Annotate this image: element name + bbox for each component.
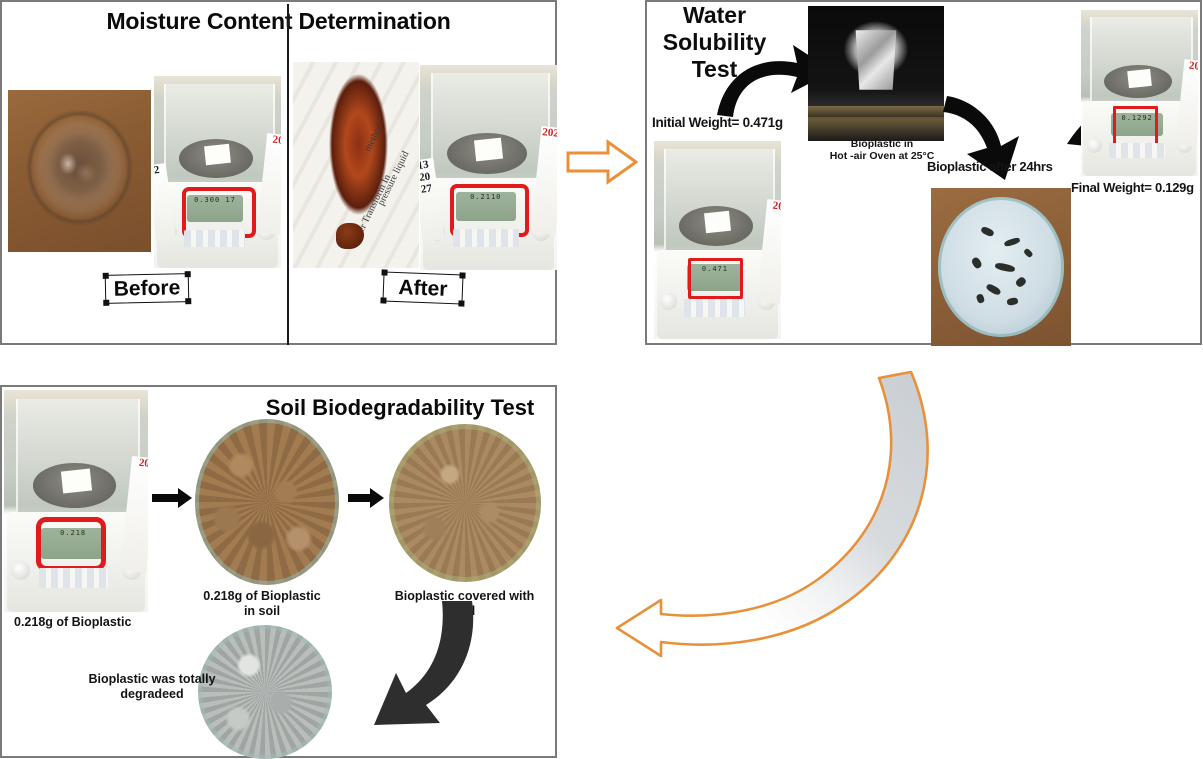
balance-keypad (1109, 143, 1165, 158)
balance-sample (474, 137, 503, 160)
orange-straight-arrow-icon (566, 138, 638, 186)
caption-fully-degraded: Bioplastic was totally degradeed (72, 672, 232, 702)
orange-curved-arrow-icon (595, 360, 955, 660)
photo-balance-initial: 0.471 20 (654, 141, 781, 339)
black-curved-arrow-icon (322, 599, 482, 739)
paper-text-method: method (362, 122, 385, 154)
handle-bottom-left (103, 300, 109, 306)
handle-top-right (459, 272, 465, 278)
bioplastic-fragment (985, 283, 1002, 297)
bioplastic-fragment (994, 262, 1015, 273)
bioplastic-fragment (980, 226, 994, 238)
red-highlight-box (1113, 106, 1159, 147)
balance-sample (204, 144, 231, 166)
caption-initial-weight: Initial Weight= 0.471g (652, 115, 783, 131)
caption-oven-line1: Bioplastic in (851, 138, 913, 150)
bioplastic-fragment (1007, 297, 1019, 306)
handle-bottom-left (380, 297, 386, 303)
panel-moisture-title: Moisture Content Determination (2, 8, 555, 35)
caption-after-24hrs: Bioplastic after 24hrs (927, 159, 1053, 174)
label-after-text: After (384, 273, 463, 301)
photo-bioplastic-covered-with-soil (389, 424, 541, 582)
caption-oven-line2: Hot -air Oven at 25°C (830, 150, 935, 162)
bioplastic-fragment (1023, 248, 1033, 258)
label-after-box: After (382, 271, 463, 304)
handle-bottom-right (458, 300, 464, 306)
balance-keypad (453, 229, 519, 247)
handle-top-left (103, 273, 109, 279)
panel-moisture-content: Moisture Content Determination 0.300 17 … (0, 0, 557, 345)
caption-soil-line1: 0.218g of Bioplastic (203, 589, 320, 603)
photo-wet-bioplastic-gel: method pressure liquid er Transform In (293, 62, 419, 268)
photo-oven-with-bioplastic (808, 6, 944, 141)
caption-degraded-line2: degradeed (120, 687, 183, 701)
balance-keypad (184, 230, 245, 247)
handle-bottom-right (185, 298, 191, 304)
panel-soil-title: Soil Biodegradability Test (242, 395, 558, 421)
water-title-line1: Water (683, 2, 746, 28)
balance-foot-left (1087, 138, 1102, 153)
foil-wrapped-sample (853, 30, 899, 89)
balance-sample (61, 468, 92, 493)
label-before-text: Before (106, 274, 188, 300)
red-highlight-box (36, 517, 106, 571)
balance-keypad (39, 568, 108, 588)
caption-final-weight: Final Weight= 0.129g (1071, 180, 1194, 195)
caption-weighed-bioplastic: 0.218g of Bioplastic (14, 615, 131, 630)
handle-top-left (381, 269, 387, 275)
caption-degraded-line1: Bioplastic was totally (88, 672, 215, 686)
handle-top-right (185, 271, 191, 277)
panel-soil-biodegradability: Soil Biodegradability Test 0.218 20 0.21… (0, 385, 557, 758)
panel-divider (287, 4, 289, 345)
balance-keypad (684, 299, 745, 317)
photo-petri-dish-water (931, 188, 1071, 346)
photo-balance-soil: 0.218 20 (4, 390, 148, 612)
caption-soil-line2: in soil (244, 604, 280, 618)
paper-text-transform: er Transform In (356, 173, 393, 234)
label-before-box: Before (105, 273, 190, 304)
bioplastic-fragment (975, 293, 985, 304)
balance-foot-left (11, 561, 30, 580)
gel-blob (336, 223, 364, 250)
balance-sample (704, 211, 731, 233)
red-highlight-box (688, 258, 742, 300)
oven-tray (808, 106, 944, 117)
black-arrow-b-icon (348, 487, 384, 509)
panel-water-solubility: 0.471 20 Initial Weight= 0.471g Bioplast… (645, 0, 1202, 345)
water-disc (938, 197, 1064, 336)
balance-foot-left (660, 293, 677, 310)
photo-bioplastic-in-soil (195, 419, 339, 585)
bioplastic-fragment (1015, 276, 1028, 289)
photo-balance-final: 0.1292 20 (1081, 10, 1198, 176)
balance-sample (1127, 69, 1152, 88)
black-arrow-a-icon (152, 487, 192, 509)
seaweed-clump (51, 143, 108, 195)
photo-balance-before: 0.300 17 2 20 (154, 76, 281, 268)
photo-balance-after: 0.2110 132027 2020 (420, 65, 557, 270)
photo-seaweed-in-petri-dish (8, 90, 151, 252)
caption-bioplastic-in-soil: 0.218g of Bioplastic in soil (187, 589, 337, 619)
bioplastic-fragment (970, 256, 983, 270)
bioplastic-fragment (1003, 237, 1020, 247)
